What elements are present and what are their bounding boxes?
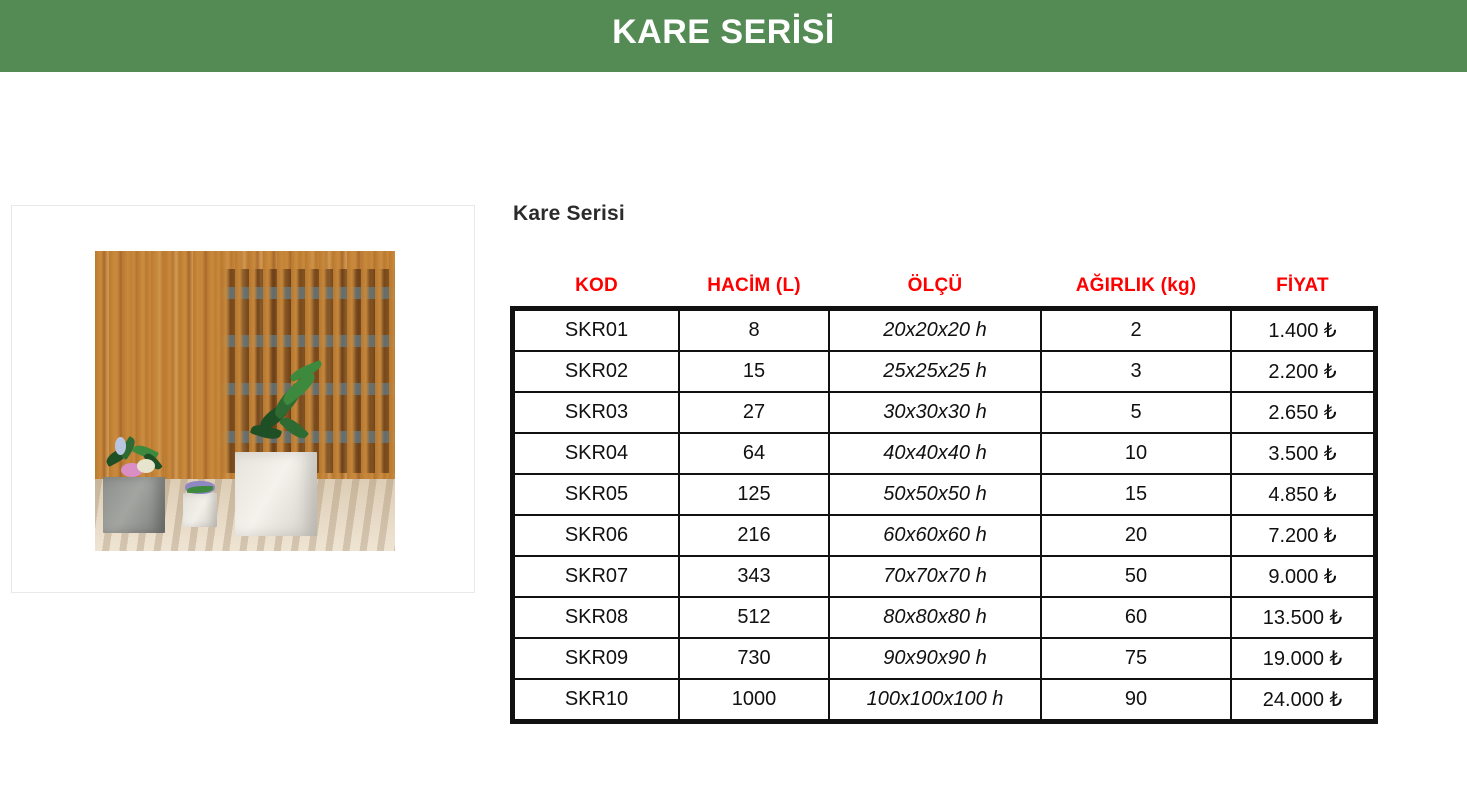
table-row: SKR0621660x60x60 h207.200 ₺ (514, 515, 1374, 556)
cell-fiyat: 9.000 ₺ (1231, 556, 1374, 597)
spec-table: KOD HACİM (L) ÖLÇÜ AĞIRLIK (kg) FİYAT SK… (513, 275, 1375, 721)
cell-olcu: 60x60x60 h (829, 515, 1041, 556)
planter-large-grey (103, 477, 165, 533)
cell-kod: SKR09 (514, 638, 679, 679)
table-row: SKR0851280x80x80 h6013.500 ₺ (514, 597, 1374, 638)
column-header-kod: KOD (514, 275, 679, 310)
cell-hacim: 1000 (679, 679, 829, 720)
section-title: Kare Serisi (513, 202, 625, 226)
cell-agirlik: 10 (1041, 433, 1231, 474)
cell-kod: SKR01 (514, 310, 679, 351)
planter-body (183, 493, 217, 527)
cell-fiyat: 13.500 ₺ (1231, 597, 1374, 638)
planter-body (103, 477, 165, 533)
planter-small-light (183, 493, 217, 527)
table-row: SKR101000100x100x100 h9024.000 ₺ (514, 679, 1374, 720)
product-catalog-page: KARE SERİSİ (0, 0, 1467, 807)
cell-olcu: 30x30x30 h (829, 392, 1041, 433)
spec-table-wrapper: KOD HACİM (L) ÖLÇÜ AĞIRLIK (kg) FİYAT SK… (513, 275, 1373, 721)
cell-agirlik: 3 (1041, 351, 1231, 392)
cell-fiyat: 24.000 ₺ (1231, 679, 1374, 720)
product-image-card[interactable] (11, 205, 475, 593)
cell-hacim: 64 (679, 433, 829, 474)
spec-table-head: KOD HACİM (L) ÖLÇÜ AĞIRLIK (kg) FİYAT (514, 275, 1374, 310)
cell-fiyat: 19.000 ₺ (1231, 638, 1374, 679)
cell-olcu: 20x20x20 h (829, 310, 1041, 351)
cell-hacim: 8 (679, 310, 829, 351)
cell-agirlik: 5 (1041, 392, 1231, 433)
cell-olcu: 50x50x50 h (829, 474, 1041, 515)
planter-body (235, 452, 317, 536)
cell-agirlik: 90 (1041, 679, 1231, 720)
cell-olcu: 40x40x40 h (829, 433, 1041, 474)
cell-fiyat: 2.650 ₺ (1231, 392, 1374, 433)
column-header-agirlik: AĞIRLIK (kg) (1041, 275, 1231, 310)
page-header-banner: KARE SERİSİ (0, 0, 1467, 72)
cell-olcu: 80x80x80 h (829, 597, 1041, 638)
table-row: SKR0512550x50x50 h154.850 ₺ (514, 474, 1374, 515)
cell-fiyat: 3.500 ₺ (1231, 433, 1374, 474)
cell-kod: SKR04 (514, 433, 679, 474)
column-header-olcu: ÖLÇÜ (829, 275, 1041, 310)
cell-agirlik: 15 (1041, 474, 1231, 515)
cell-olcu: 100x100x100 h (829, 679, 1041, 720)
cell-hacim: 15 (679, 351, 829, 392)
planter-large-light (235, 452, 317, 536)
cell-hacim: 343 (679, 556, 829, 597)
spec-table-body: SKR01820x20x20 h21.400 ₺SKR021525x25x25 … (514, 310, 1374, 720)
cell-kod: SKR02 (514, 351, 679, 392)
column-header-fiyat: FİYAT (1231, 275, 1374, 310)
flower-blue-icon (115, 437, 126, 455)
cell-olcu: 25x25x25 h (829, 351, 1041, 392)
cell-agirlik: 20 (1041, 515, 1231, 556)
product-photo[interactable] (95, 251, 395, 551)
cell-fiyat: 1.400 ₺ (1231, 310, 1374, 351)
cell-kod: SKR07 (514, 556, 679, 597)
cell-olcu: 70x70x70 h (829, 556, 1041, 597)
cell-kod: SKR10 (514, 679, 679, 720)
cell-agirlik: 75 (1041, 638, 1231, 679)
cell-fiyat: 7.200 ₺ (1231, 515, 1374, 556)
cell-hacim: 27 (679, 392, 829, 433)
cell-kod: SKR05 (514, 474, 679, 515)
cell-hacim: 125 (679, 474, 829, 515)
table-row: SKR0734370x70x70 h509.000 ₺ (514, 556, 1374, 597)
cell-kod: SKR06 (514, 515, 679, 556)
page-title: KARE SERİSİ (612, 15, 835, 49)
cell-hacim: 730 (679, 638, 829, 679)
column-header-hacim: HACİM (L) (679, 275, 829, 310)
table-row: SKR021525x25x25 h32.200 ₺ (514, 351, 1374, 392)
table-row: SKR046440x40x40 h103.500 ₺ (514, 433, 1374, 474)
cell-kod: SKR08 (514, 597, 679, 638)
table-header-row: KOD HACİM (L) ÖLÇÜ AĞIRLIK (kg) FİYAT (514, 275, 1374, 310)
cell-kod: SKR03 (514, 392, 679, 433)
table-row: SKR01820x20x20 h21.400 ₺ (514, 310, 1374, 351)
cell-agirlik: 60 (1041, 597, 1231, 638)
table-row: SKR032730x30x30 h52.650 ₺ (514, 392, 1374, 433)
cell-fiyat: 2.200 ₺ (1231, 351, 1374, 392)
cell-agirlik: 50 (1041, 556, 1231, 597)
cell-agirlik: 2 (1041, 310, 1231, 351)
table-row: SKR0973090x90x90 h7519.000 ₺ (514, 638, 1374, 679)
cell-hacim: 216 (679, 515, 829, 556)
cell-hacim: 512 (679, 597, 829, 638)
cell-olcu: 90x90x90 h (829, 638, 1041, 679)
cell-fiyat: 4.850 ₺ (1231, 474, 1374, 515)
flower-cream-icon (137, 459, 155, 473)
